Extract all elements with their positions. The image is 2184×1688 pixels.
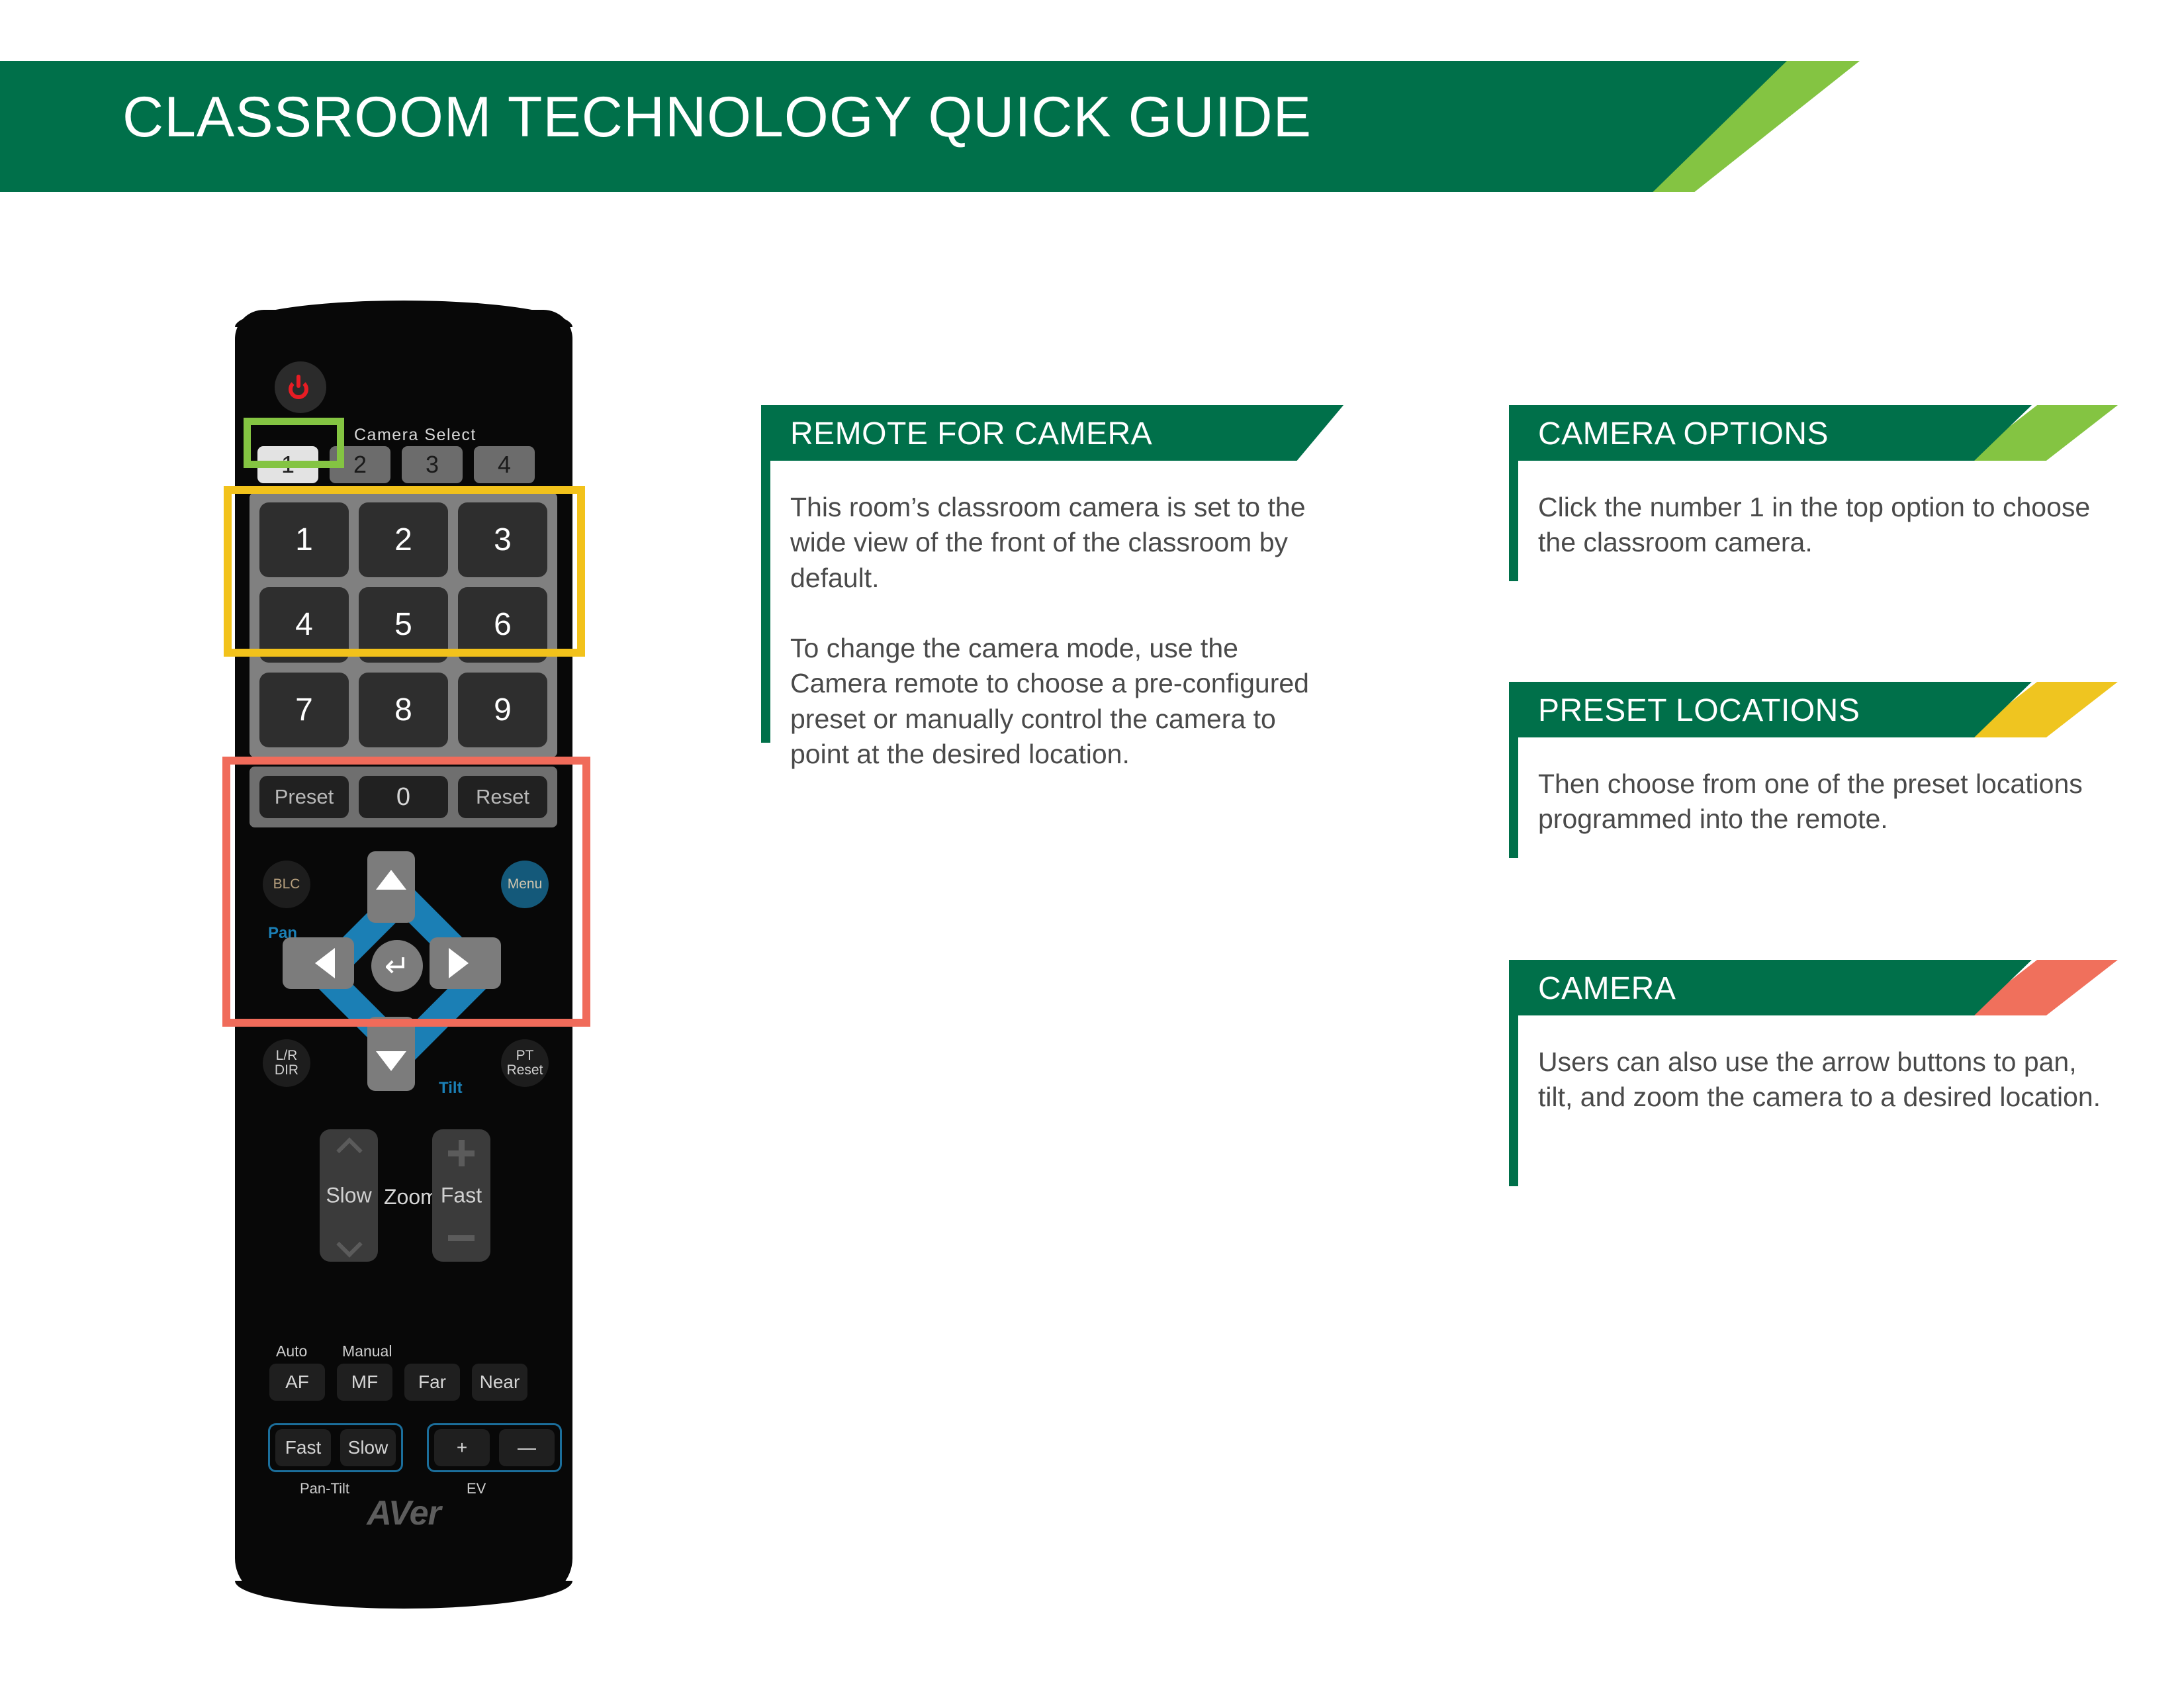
zoom-fast-label: Fast [441, 1184, 482, 1208]
header-banner: CLASSROOM TECHNOLOGY QUICK GUIDE [0, 61, 1873, 192]
panel-camera-options: CAMERA OPTIONS Click the number 1 in the… [1509, 405, 2105, 461]
panel-left-stripe [1509, 737, 1518, 858]
pantilt-fast-button[interactable]: Fast [275, 1429, 331, 1466]
camera-select-label: Camera Select [354, 426, 477, 445]
panel-body-text: Then choose from one of the preset locat… [1538, 767, 2107, 837]
down-arrow-icon [376, 1051, 406, 1071]
keypad-button-8[interactable]: 8 [359, 673, 448, 747]
panel-header: CAMERA OPTIONS [1509, 405, 2105, 461]
panel-camera: CAMERA Users can also use the arrow butt… [1509, 960, 2105, 1015]
panel-title: REMOTE FOR CAMERA [790, 416, 1152, 452]
zoom-section: Slow Zoom Fast [242, 1124, 566, 1276]
dpad-down-button[interactable] [367, 1017, 415, 1091]
panel-body-text: Click the number 1 in the top option to … [1538, 490, 2107, 561]
near-button[interactable]: Near [472, 1364, 527, 1401]
auto-label: Auto [276, 1342, 307, 1360]
panel-body-text: This room’s classroom camera is set to t… [790, 490, 1340, 772]
camera-select-button-3[interactable]: 3 [402, 446, 463, 483]
pantilt-slow-button[interactable]: Slow [340, 1429, 396, 1466]
mf-button[interactable]: MF [337, 1364, 392, 1401]
panel-title: PRESET LOCATIONS [1538, 692, 1860, 729]
keypad-button-7[interactable]: 7 [259, 673, 349, 747]
page-title: CLASSROOM TECHNOLOGY QUICK GUIDE [122, 85, 1312, 150]
camera-select-button-4[interactable]: 4 [474, 446, 535, 483]
panel-header: REMOTE FOR CAMERA [761, 405, 1343, 461]
chevron-down-icon [338, 1238, 360, 1251]
panel-header: PRESET LOCATIONS [1509, 682, 2105, 737]
panel-header: CAMERA [1509, 960, 2105, 1015]
panel-body-text: Users can also use the arrow buttons to … [1538, 1045, 2107, 1115]
ev-minus-button[interactable]: — [499, 1429, 555, 1466]
panel-left-stripe [1509, 1015, 1518, 1186]
zoom-slow-rocker[interactable]: Slow [320, 1129, 378, 1262]
focus-button-row: AF MF Far Near [269, 1364, 527, 1401]
remote-top-curve [235, 301, 572, 327]
aver-logo: AVer [235, 1493, 572, 1533]
power-button[interactable] [275, 361, 326, 413]
minus-icon [448, 1225, 475, 1251]
panel-left-stripe [761, 461, 770, 743]
zoom-label: Zoom [384, 1185, 438, 1209]
zoom-slow-label: Slow [326, 1184, 371, 1208]
preset-keypad-highlight-box [224, 486, 585, 657]
camera-select-highlight-box [244, 418, 344, 468]
pan-tilt-speed-group: Fast Slow [268, 1423, 403, 1472]
ev-group: + — [427, 1423, 562, 1472]
panel-left-stripe [1509, 461, 1518, 581]
chevron-up-icon [338, 1140, 360, 1153]
remote-bottom-curve [235, 1581, 572, 1609]
panel-title: CAMERA OPTIONS [1538, 416, 1829, 452]
lr-dir-button[interactable]: L/R DIR [263, 1039, 310, 1087]
power-icon [287, 374, 314, 400]
pt-reset-button[interactable]: PT Reset [501, 1039, 549, 1087]
manual-label: Manual [342, 1342, 392, 1360]
zoom-fast-rocker[interactable]: Fast [432, 1129, 490, 1262]
dpad-highlight-box [222, 757, 590, 1027]
panel-title: CAMERA [1538, 970, 1676, 1007]
panel-preset-locations: PRESET LOCATIONS Then choose from one of… [1509, 682, 2105, 737]
af-button[interactable]: AF [269, 1364, 325, 1401]
tilt-label: Tilt [439, 1079, 463, 1098]
ev-plus-button[interactable]: + [434, 1429, 490, 1466]
panel-remote-for-camera: REMOTE FOR CAMERA This room’s classroom … [761, 405, 1343, 461]
plus-icon [448, 1140, 475, 1166]
keypad-button-9[interactable]: 9 [458, 673, 547, 747]
far-button[interactable]: Far [404, 1364, 460, 1401]
